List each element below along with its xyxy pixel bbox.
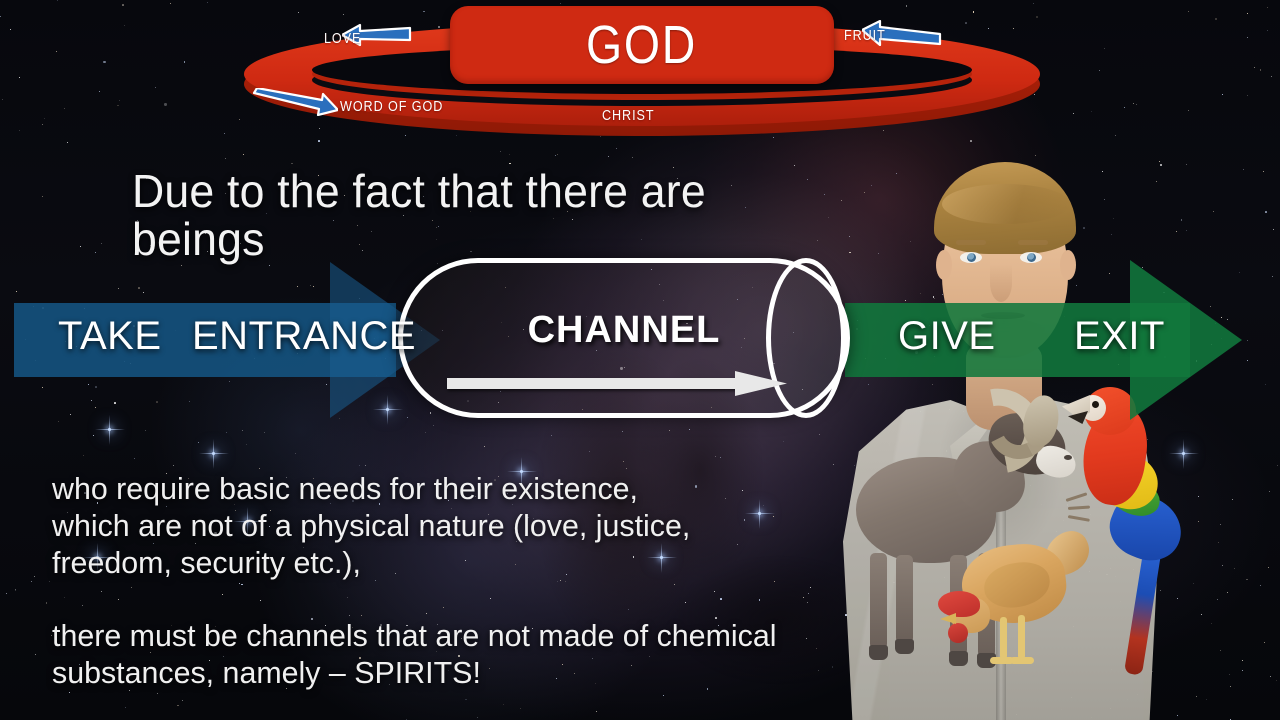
body-line: substances, namely – SPIRITS! bbox=[52, 654, 826, 691]
give-label: GIVE bbox=[898, 314, 996, 359]
take-label: TAKE bbox=[58, 314, 162, 359]
hen-leg-2 bbox=[1018, 615, 1025, 659]
hen-leg-1 bbox=[1000, 617, 1007, 659]
hen-wattle bbox=[948, 623, 968, 643]
body-line: which are not of a physical nature (love… bbox=[52, 507, 826, 544]
presenter-eyebrow-right bbox=[1018, 240, 1048, 245]
body-paragraph-1: who require basic needs for their existe… bbox=[52, 470, 826, 582]
bright-star bbox=[1182, 452, 1185, 455]
flow-diagram: CHANNEL TAKE ENTRANCE GIVE EXIT bbox=[0, 250, 1280, 430]
bright-star bbox=[212, 452, 215, 455]
ring-label-fruit: FRUIT bbox=[844, 27, 886, 44]
parrot-feet bbox=[1066, 495, 1108, 531]
hen-comb bbox=[938, 591, 980, 617]
presenter-hair bbox=[934, 162, 1076, 254]
ring-label-christ: CHRIST bbox=[602, 107, 654, 124]
entrance-label: ENTRANCE bbox=[192, 314, 416, 359]
word-of-god-arrow-icon bbox=[252, 88, 338, 116]
ram-leg-2 bbox=[896, 555, 913, 643]
hen-foot-2 bbox=[1010, 657, 1034, 664]
body-line: freedom, security etc.), bbox=[52, 544, 826, 581]
channel-flow-arrow-icon bbox=[447, 371, 787, 395]
ram-hoof-1 bbox=[869, 645, 888, 660]
ram-hoof-2 bbox=[895, 639, 914, 654]
channel-cylinder: CHANNEL bbox=[398, 258, 850, 418]
presenter-eyebrow-left bbox=[956, 240, 986, 245]
body-line: there must be channels that are not made… bbox=[52, 617, 826, 654]
ram-hoof-3 bbox=[949, 651, 968, 666]
body-paragraph-2: there must be channels that are not made… bbox=[52, 617, 826, 691]
animal-group bbox=[838, 385, 1178, 720]
parrot-tail bbox=[1124, 544, 1162, 675]
ram-leg-1 bbox=[870, 553, 887, 649]
ring-label-love: LOVE bbox=[324, 30, 361, 47]
ring-label-word-of-god: WORD OF GOD bbox=[340, 98, 443, 115]
slide-stage: GOD LOVE FRUIT WORD OF GOD CHRIST Due to… bbox=[0, 0, 1280, 720]
exit-label: EXIT bbox=[1074, 314, 1165, 359]
ram-nostril bbox=[1064, 455, 1072, 460]
god-label: GOD bbox=[587, 18, 698, 72]
body-line: who require basic needs for their existe… bbox=[52, 470, 826, 507]
channel-label: CHANNEL bbox=[403, 309, 845, 352]
god-christ-ring: GOD LOVE FRUIT WORD OF GOD CHRIST bbox=[232, 0, 1052, 148]
god-center-panel: GOD bbox=[450, 6, 834, 84]
